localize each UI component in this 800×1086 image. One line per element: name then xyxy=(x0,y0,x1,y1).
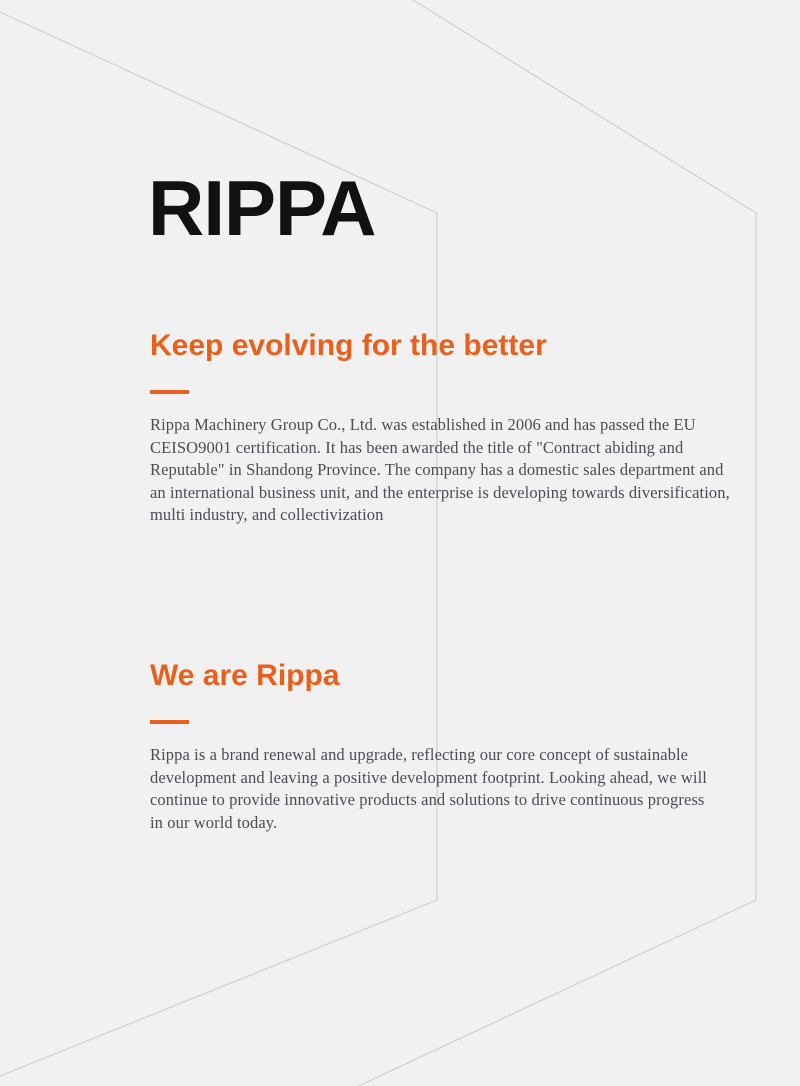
page-content: RIPPA Keep evolving for the better Rippa… xyxy=(0,0,800,1086)
section-heading: Keep evolving for the better xyxy=(150,328,735,364)
section-keep-evolving: Keep evolving for the better Rippa Machi… xyxy=(150,328,735,527)
section-rule xyxy=(150,390,189,394)
brand-logo: RIPPA xyxy=(148,166,376,250)
section-we-are-rippa: We are Rippa Rippa is a brand renewal an… xyxy=(150,658,710,834)
section-body-text: Rippa Machinery Group Co., Ltd. was esta… xyxy=(150,414,735,527)
section-body-text: Rippa is a brand renewal and upgrade, re… xyxy=(150,744,710,834)
section-rule xyxy=(150,720,189,724)
page-root: RIPPA Keep evolving for the better Rippa… xyxy=(0,0,800,1086)
section-heading: We are Rippa xyxy=(150,658,710,694)
